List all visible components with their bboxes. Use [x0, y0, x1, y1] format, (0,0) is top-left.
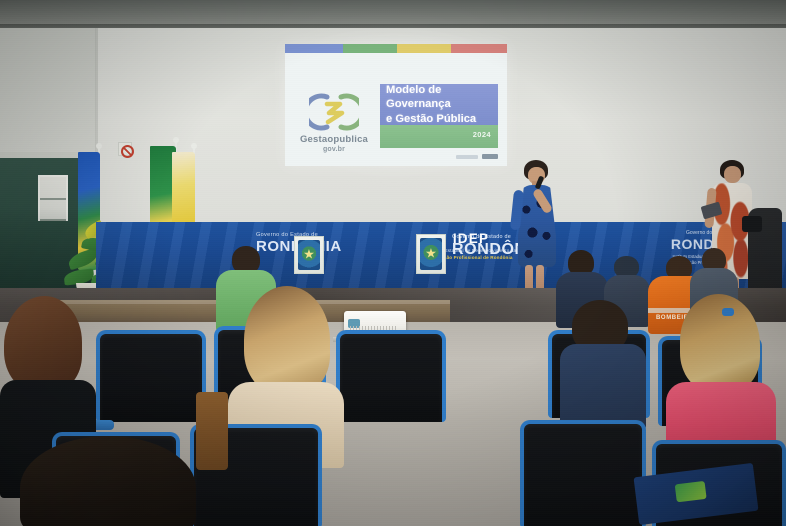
audience-foreground-head	[20, 436, 196, 526]
slide-title: Modelo de Governança e Gestão Pública	[380, 83, 498, 126]
slide-title-line1: Modelo de Governança	[386, 84, 451, 110]
audience-blue-shirt	[560, 300, 646, 436]
head-hair	[244, 286, 330, 394]
swirl-icon	[309, 91, 359, 133]
head-hair	[680, 294, 760, 392]
slide-green-strip: 2024	[380, 125, 498, 148]
slide-color-bar	[285, 44, 507, 53]
slide-footer-logos	[380, 151, 498, 162]
handbag	[196, 392, 228, 470]
topbar-red	[451, 44, 507, 53]
logo-domain: gov.br	[295, 146, 373, 154]
topbar-green	[343, 44, 398, 53]
slide-title-block: Modelo de Governança e Gestão Pública	[380, 84, 498, 125]
logo-caption: Gestaopublica gov.br	[295, 135, 373, 154]
slide-title-line2: e Gestão Pública	[386, 113, 476, 125]
torso	[560, 344, 646, 430]
hair-tie	[722, 308, 734, 316]
no-smoking-icon	[118, 142, 132, 156]
left-upper-wall	[0, 28, 96, 160]
footer-logo-left	[456, 155, 478, 159]
chair[interactable]	[520, 420, 646, 526]
head-hair	[20, 436, 196, 526]
brasao-rondonia-left: ★	[294, 236, 324, 274]
slide-body: Gestaopublica gov.br Modelo de Governanç…	[285, 53, 507, 166]
topbar-blue	[285, 44, 343, 53]
footer-logo-right	[482, 154, 498, 159]
topbar-yellow	[397, 44, 451, 53]
chair[interactable]	[336, 330, 446, 422]
projected-slide: Gestaopublica gov.br Modelo de Governanç…	[285, 44, 507, 166]
slide-year: 2024	[473, 130, 491, 139]
head-hair	[4, 296, 82, 392]
chair[interactable]	[96, 330, 206, 422]
logo-name: Gestaopublica	[300, 134, 368, 145]
auditorium-photo: Gestaopublica gov.br Modelo de Governanç…	[0, 0, 786, 526]
gestaopublica-logo: Gestaopublica gov.br	[295, 91, 373, 153]
assistant-face	[724, 166, 741, 183]
brasao-rondonia-center: ★	[416, 234, 446, 274]
laptop-graphic	[675, 481, 707, 503]
camera-icon	[742, 216, 762, 232]
audience-pink-top	[666, 294, 776, 464]
